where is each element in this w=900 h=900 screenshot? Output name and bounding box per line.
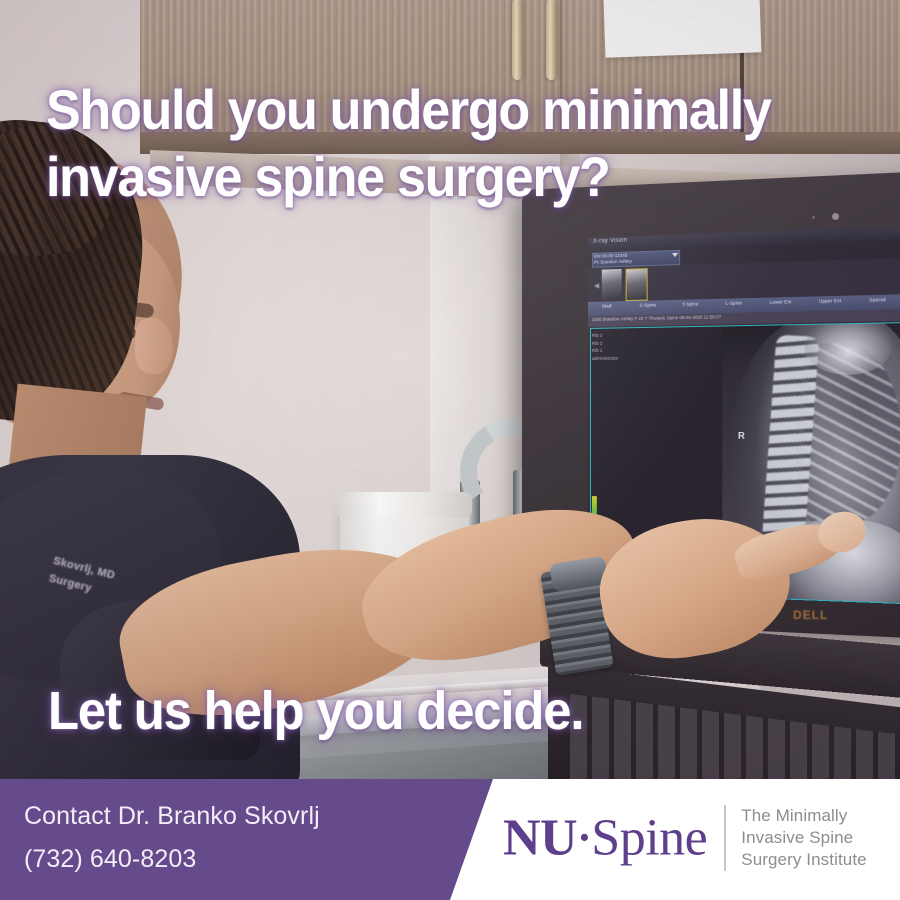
tab-upper-ext[interactable]: Upper Ext xyxy=(819,298,841,304)
xray-side-marker: R xyxy=(738,430,751,445)
thumbnail-item-selected[interactable] xyxy=(626,268,648,301)
tab-special[interactable]: Special xyxy=(869,297,886,303)
advertisement-graphic: X-ray Vision ID# 00-00-12345 Pt: Brandon… xyxy=(0,0,900,900)
contact-banner: Contact Dr. Branko Skovrlj (732) 640-820… xyxy=(0,779,900,900)
cabinet-handle xyxy=(512,0,523,80)
logo-spine: Spine xyxy=(591,809,707,866)
call-to-action-text: Let us help you decide. xyxy=(48,680,762,742)
series-list: Rib 2 Rib 2 Rib 1 administrator xyxy=(592,331,652,362)
prev-thumbnail-icon[interactable]: ◀ xyxy=(594,282,599,290)
laptop-brand-logo: DELL xyxy=(793,608,837,624)
page-title: Should you undergo minimally invasive sp… xyxy=(46,76,799,210)
logo-tagline: The Minimally Invasive Spine Surgery Ins… xyxy=(741,805,866,871)
tab-c-spine[interactable]: C-Spine xyxy=(640,302,657,307)
nuspine-logo[interactable]: NU·Spine The Minimally Invasive Spine Su… xyxy=(503,805,867,871)
tab-t-spine[interactable]: T-Spine xyxy=(682,301,698,306)
chevron-down-icon[interactable] xyxy=(672,253,678,257)
webcam-icon xyxy=(832,213,839,220)
contact-phone[interactable]: (732) 640-8203 xyxy=(24,838,320,881)
logo-divider xyxy=(724,805,726,871)
logo-nu: NU xyxy=(503,809,577,866)
posted-paper-sign xyxy=(603,0,762,58)
canister-lid xyxy=(336,492,472,518)
software-title: X-ray Vision xyxy=(593,238,627,245)
tab-lower-ext[interactable]: Lower Ext xyxy=(770,299,792,305)
tab-skull[interactable]: Skull xyxy=(602,303,612,308)
thumbnail-item[interactable] xyxy=(602,269,622,300)
contact-block: Contact Dr. Branko Skovrlj (732) 640-820… xyxy=(24,795,320,881)
webcam-indicator-icon xyxy=(812,216,815,219)
contact-name: Contact Dr. Branko Skovrlj xyxy=(24,795,320,838)
logo-dot-icon: · xyxy=(577,813,591,862)
cabinet-handle xyxy=(546,0,557,80)
tab-l-spine[interactable]: L-Spine xyxy=(725,300,742,306)
doctor-nose xyxy=(135,318,173,374)
logo-wordmark: NU·Spine xyxy=(503,810,707,867)
